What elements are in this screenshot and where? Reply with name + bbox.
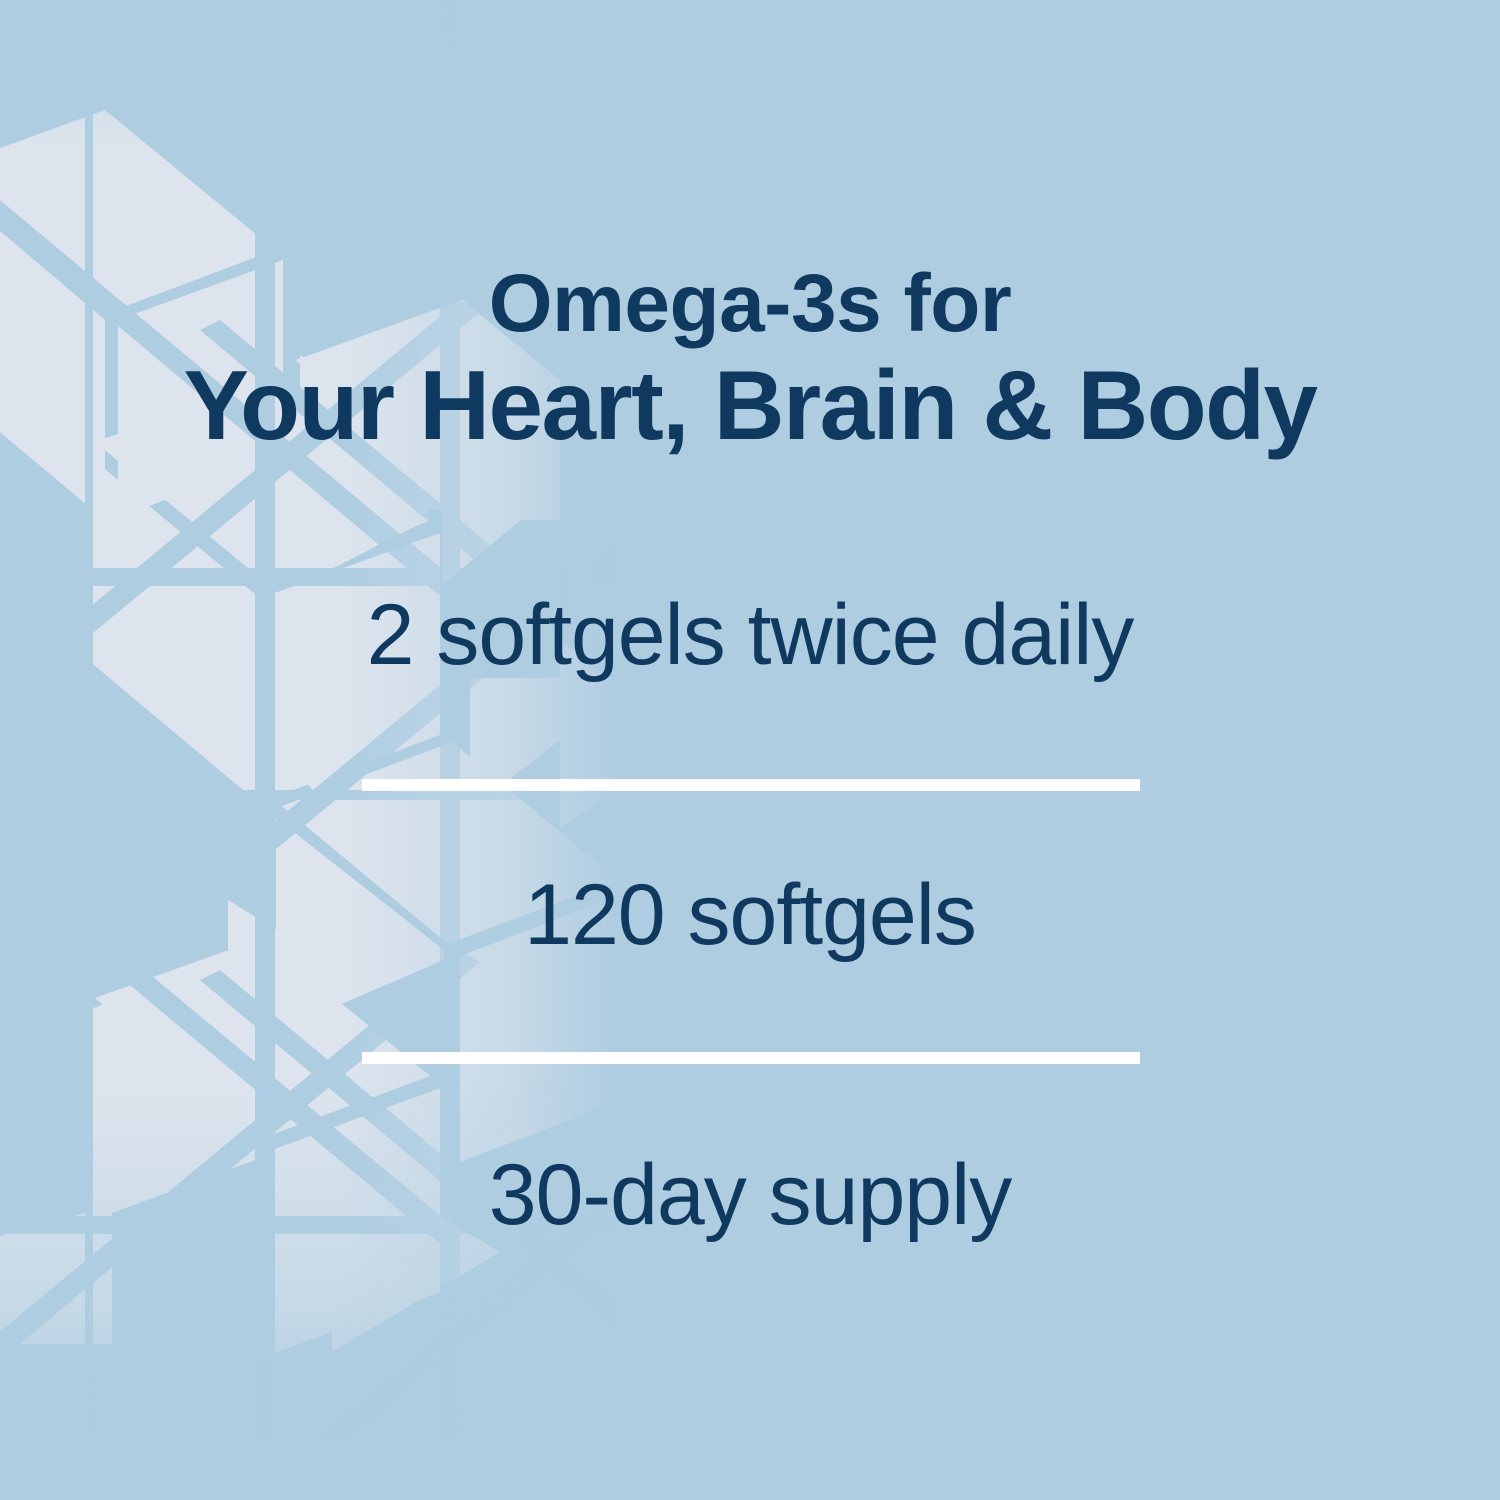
- divider-bottom: [362, 1052, 1140, 1064]
- supply-duration-text: 30-day supply: [0, 1152, 1500, 1238]
- softgel-count-text: 120 softgels: [0, 872, 1500, 958]
- headline-line-1: Omega-3s for: [0, 262, 1500, 346]
- page-title: Omega-3s for Your Heart, Brain & Body: [0, 262, 1500, 456]
- product-infographic-panel: Omega-3s for Your Heart, Brain & Body 2 …: [0, 0, 1500, 1500]
- content-column: Omega-3s for Your Heart, Brain & Body 2 …: [0, 0, 1500, 1500]
- divider-top: [362, 779, 1140, 791]
- headline-line-2: Your Heart, Brain & Body: [0, 356, 1500, 456]
- dosage-text: 2 softgels twice daily: [0, 592, 1500, 678]
